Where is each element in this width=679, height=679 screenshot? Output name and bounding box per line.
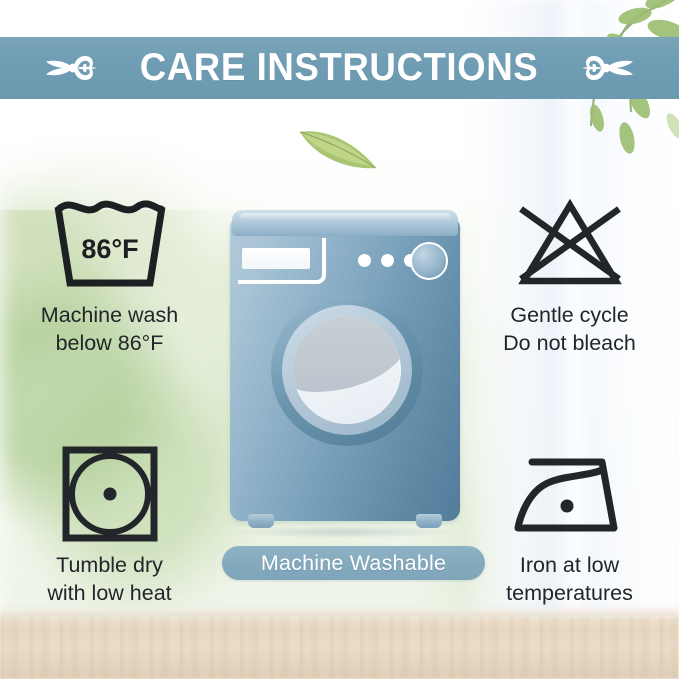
washing-machine-illustration	[230, 210, 460, 535]
control-indicator-lights	[358, 254, 417, 267]
machine-door	[271, 294, 423, 446]
care-caption: Iron at low temperatures	[462, 552, 677, 607]
care-instructions-card: CARE INSTRUCTIONS 86°F Machine w	[0, 0, 679, 679]
door-inner-ring	[282, 305, 412, 435]
care-symbol-machine-wash: 86°F Machine wash below 86°F	[2, 188, 217, 357]
wood-table-surface	[0, 617, 679, 679]
care-caption: Gentle cycle Do not bleach	[462, 302, 677, 357]
header-banner: CARE INSTRUCTIONS	[0, 37, 679, 99]
machine-foot	[248, 514, 274, 528]
page-title: CARE INSTRUCTIONS	[140, 46, 539, 90]
care-caption: Machine wash below 86°F	[2, 302, 217, 357]
indicator-dot	[381, 254, 394, 267]
care-symbol-iron-low: Iron at low temperatures	[462, 438, 677, 607]
care-caption: Tumble dry with low heat	[2, 552, 217, 607]
door-reflection	[293, 316, 401, 392]
detergent-drawer-slot	[242, 248, 310, 269]
no-bleach-triangle-icon	[462, 188, 677, 300]
machine-washable-badge: Machine Washable	[222, 546, 485, 580]
machine-top-panel	[232, 210, 458, 236]
fleur-de-lis-icon	[574, 48, 636, 88]
iron-low-heat-icon	[462, 438, 677, 550]
machine-foot	[416, 514, 442, 528]
door-glass	[293, 316, 401, 424]
fleur-de-lis-icon	[43, 48, 105, 88]
tumble-dry-low-icon	[2, 438, 217, 550]
wash-tub-icon: 86°F	[2, 188, 217, 300]
care-symbol-no-bleach: Gentle cycle Do not bleach	[462, 188, 677, 357]
indicator-dot	[358, 254, 371, 267]
wash-temperature-label: 86°F	[81, 234, 138, 264]
badge-label: Machine Washable	[261, 551, 446, 576]
floating-leaf-icon	[296, 118, 382, 176]
program-knob	[410, 242, 448, 280]
care-symbol-tumble-dry: Tumble dry with low heat	[2, 438, 217, 607]
